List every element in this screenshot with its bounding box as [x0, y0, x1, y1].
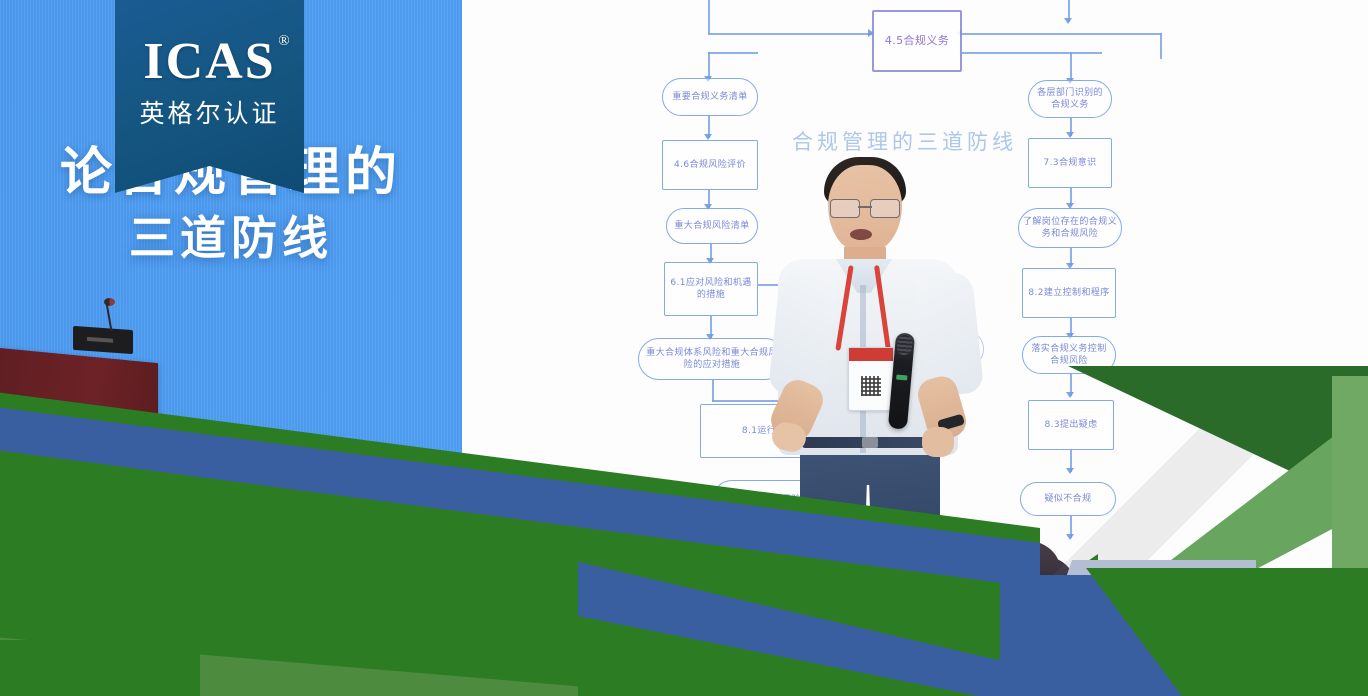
icas-logo-ribbon: ICAS® 英格尔认证 [115, 0, 304, 193]
podium-console [73, 326, 133, 354]
icas-wordmark: ICAS® [143, 36, 275, 88]
registered-trademark-icon: ® [278, 34, 291, 49]
speaker-presenter [770, 155, 980, 620]
microphone-led-icon [896, 375, 907, 381]
speaker-right-hand [922, 427, 954, 457]
qr-code-icon [861, 376, 881, 396]
audience-head [620, 538, 696, 598]
gooseneck-microphone-head-icon [104, 298, 115, 306]
deco-block-green-bottom-left [0, 640, 200, 696]
wall-headline-line2: 三道防线 [0, 202, 462, 268]
icas-brand-chinese: 英格尔认证 [115, 94, 304, 130]
attendee-badge [848, 347, 894, 411]
badge-header-bar [849, 348, 893, 361]
belt-buckle-icon [862, 437, 878, 448]
speaker-mouth [850, 229, 872, 240]
podium [0, 347, 158, 455]
screenshot-root: 4.5合规义务 重要合规义务清单 4.6合规风险评价 重大合规风险清单 6.1应… [0, 0, 1368, 696]
deco-band-green-light [0, 620, 740, 696]
eyeglasses-icon [830, 199, 900, 216]
audience-head [1010, 556, 1074, 608]
icas-brand-text: ICAS [143, 33, 275, 90]
